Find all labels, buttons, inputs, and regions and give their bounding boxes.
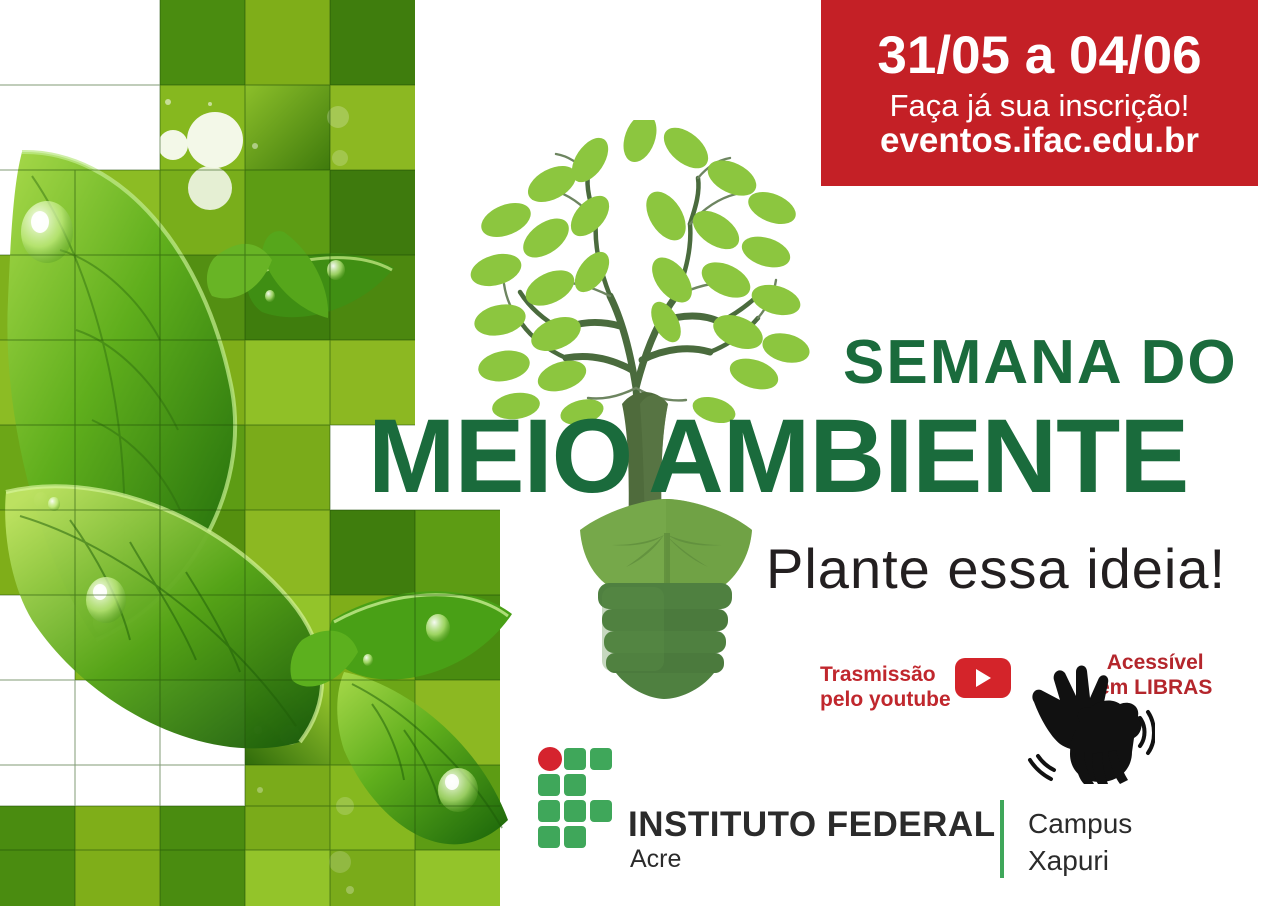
logo-square: [590, 800, 612, 822]
event-dates: 31/05 a 04/06: [877, 29, 1201, 82]
institution-unit: Acre: [630, 845, 681, 874]
tree-leaves: [470, 120, 813, 429]
logo-red-dot: [538, 747, 562, 771]
instituto-federal-logo: [538, 747, 610, 869]
tagline: Plante essa ideia!: [766, 536, 1226, 601]
campus-name: Xapuri: [1028, 845, 1109, 877]
broadcast-line2: pelo youtube: [820, 688, 951, 713]
logo-divider: [1000, 800, 1004, 878]
lightbulb-icon: [560, 495, 770, 700]
logo-square: [590, 748, 612, 770]
institution-name: INSTITUTO FEDERAL: [628, 805, 996, 845]
poster-canvas: 31/05 a 04/06 Faça já sua inscrição! eve…: [0, 0, 1280, 906]
broadcast-label: Trasmissão pelo youtube: [820, 663, 951, 713]
logo-square: [564, 826, 586, 848]
registration-cta: Faça já sua inscrição!: [890, 90, 1190, 121]
broadcast-line1: Trasmissão: [820, 663, 951, 688]
logo-square: [564, 748, 586, 770]
headline-semana-do: SEMANA DO: [843, 327, 1238, 398]
headline-meio: MEIO: [368, 404, 632, 509]
headline-ambiente: AMBIENTE: [648, 404, 1188, 509]
date-banner: 31/05 a 04/06 Faça já sua inscrição! eve…: [821, 0, 1258, 186]
logo-square: [538, 826, 560, 848]
registration-url[interactable]: eventos.ifac.edu.br: [880, 123, 1199, 158]
libras-hands-icon: [1020, 660, 1155, 785]
logo-square: [538, 774, 560, 796]
campus-label: Campus: [1028, 808, 1132, 840]
logo-square: [538, 800, 560, 822]
youtube-icon[interactable]: [955, 658, 1011, 698]
logo-square: [564, 774, 586, 796]
logo-square: [564, 800, 586, 822]
